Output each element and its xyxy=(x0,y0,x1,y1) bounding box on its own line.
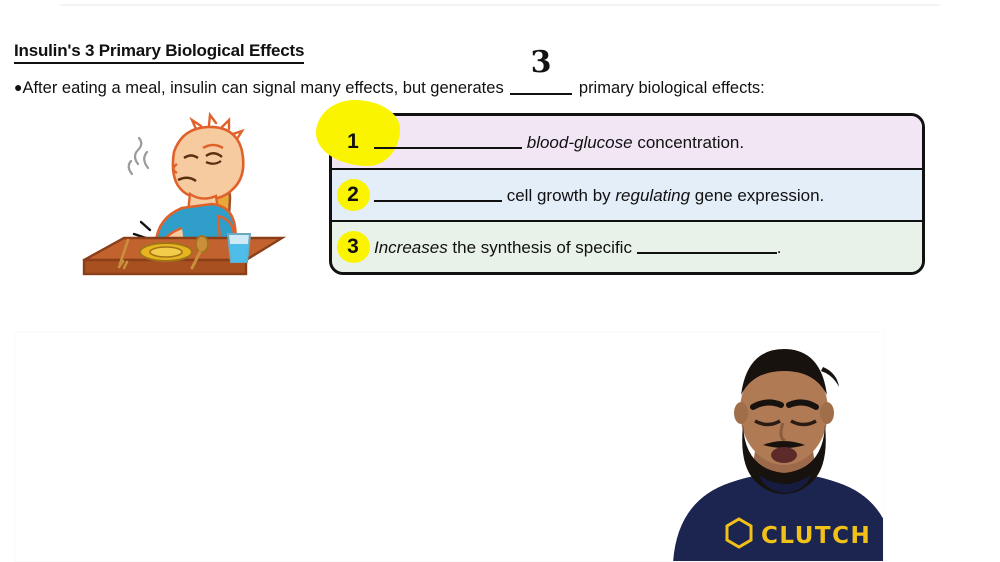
effect-blank-1[interactable] xyxy=(374,132,522,149)
effect-blank-2[interactable] xyxy=(374,185,502,202)
answer-blank-1[interactable]: 3 xyxy=(510,76,572,95)
presenter-figure: CLUTCH xyxy=(655,333,884,562)
bullet-text-before: After eating a meal, insulin can signal … xyxy=(22,79,503,97)
effect-2-plain-before: cell growth by xyxy=(502,186,615,205)
effect-row-1: 1 blood-glucose concentration. xyxy=(332,116,922,168)
top-divider xyxy=(60,4,940,6)
effect-3-plain-before: the synthesis of specific xyxy=(448,238,637,257)
effect-number-2: 2 xyxy=(347,183,359,206)
effect-row-3: 3 Increases the synthesis of specific . xyxy=(332,220,922,272)
effect-1-italic: blood-glucose xyxy=(527,133,633,152)
man-after-meal-illustration xyxy=(78,112,288,282)
effect-3-plain-after: . xyxy=(777,238,782,257)
handwritten-answer: 3 xyxy=(530,52,552,75)
effect-3-italic: Increases xyxy=(374,238,448,257)
effect-2-italic: regulating xyxy=(615,186,690,205)
effect-text-3: Increases the synthesis of specific . xyxy=(374,237,781,258)
effect-badge-1: 1 xyxy=(332,130,374,154)
effect-badge-2: 2 xyxy=(332,183,374,207)
lecture-video-panel[interactable]: CLUTCH xyxy=(14,332,884,562)
effect-1-plain: concentration. xyxy=(633,133,745,152)
clutch-logo-text: CLUTCH xyxy=(761,523,871,549)
bullet-text-after: primary biological effects: xyxy=(579,79,765,97)
effect-number-3: 3 xyxy=(347,235,359,258)
effects-list-box: 1 blood-glucose concentration. 2 cell gr… xyxy=(329,113,925,275)
effect-row-2: 2 cell growth by regulating gene express… xyxy=(332,168,922,220)
effect-badge-3: 3 xyxy=(332,235,374,259)
bullet-line: ●After eating a meal, insulin can signal… xyxy=(14,76,765,99)
page-title: Insulin's 3 Primary Biological Effects xyxy=(14,41,304,64)
effect-number-1: 1 xyxy=(347,130,359,153)
effect-blank-3[interactable] xyxy=(637,237,777,254)
effect-text-1: blood-glucose concentration. xyxy=(374,132,744,153)
effect-2-plain-after: gene expression. xyxy=(690,186,824,205)
effect-text-2: cell growth by regulating gene expressio… xyxy=(374,185,824,206)
